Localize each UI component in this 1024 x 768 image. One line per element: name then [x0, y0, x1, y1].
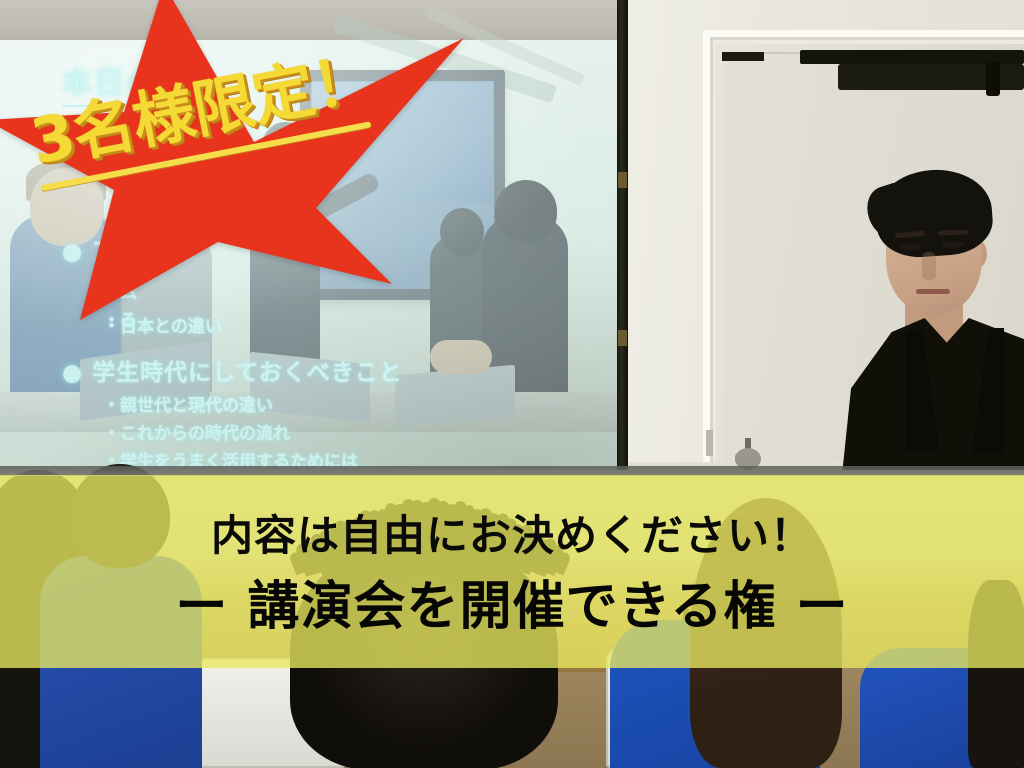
promo-banner: 内容は自由にお決めください！ ー 講演会を開催できる権 ー: [0, 475, 1024, 668]
star-shape-icon: [0, 0, 466, 334]
star-badge: [0, 0, 466, 334]
slide-bullet-7: ・親世代と現代の違い: [103, 391, 273, 416]
slide-bullet-6: ● 学生時代にしておくべきこと: [62, 353, 403, 387]
speaker-eyebrow-right: [938, 229, 968, 235]
banner-headline: 内容は自由にお決めください！: [211, 515, 813, 557]
pillar-clip-upper: [618, 172, 627, 188]
door-top-bracket: [722, 52, 764, 61]
door-closer-arm: [986, 62, 1000, 96]
pillar-clip-lower: [618, 330, 627, 346]
speaker-eye-left: [899, 243, 921, 250]
door-hinge: [706, 430, 713, 456]
speaker-mouth: [916, 289, 950, 294]
speaker-eye-right: [942, 241, 964, 248]
banner-subheadline: ー 講演会を開催できる権 ー: [175, 581, 848, 633]
screen-edge-pillar: [617, 0, 628, 492]
promo-image-canvas: 本日の ・日 ● ア ・ム ・る ・日本との違い ● 学生時代にしておくべきこと…: [0, 0, 1024, 768]
speaker-nose: [922, 252, 936, 280]
slide-bullet-8: ・これからの時代の流れ: [103, 419, 290, 444]
